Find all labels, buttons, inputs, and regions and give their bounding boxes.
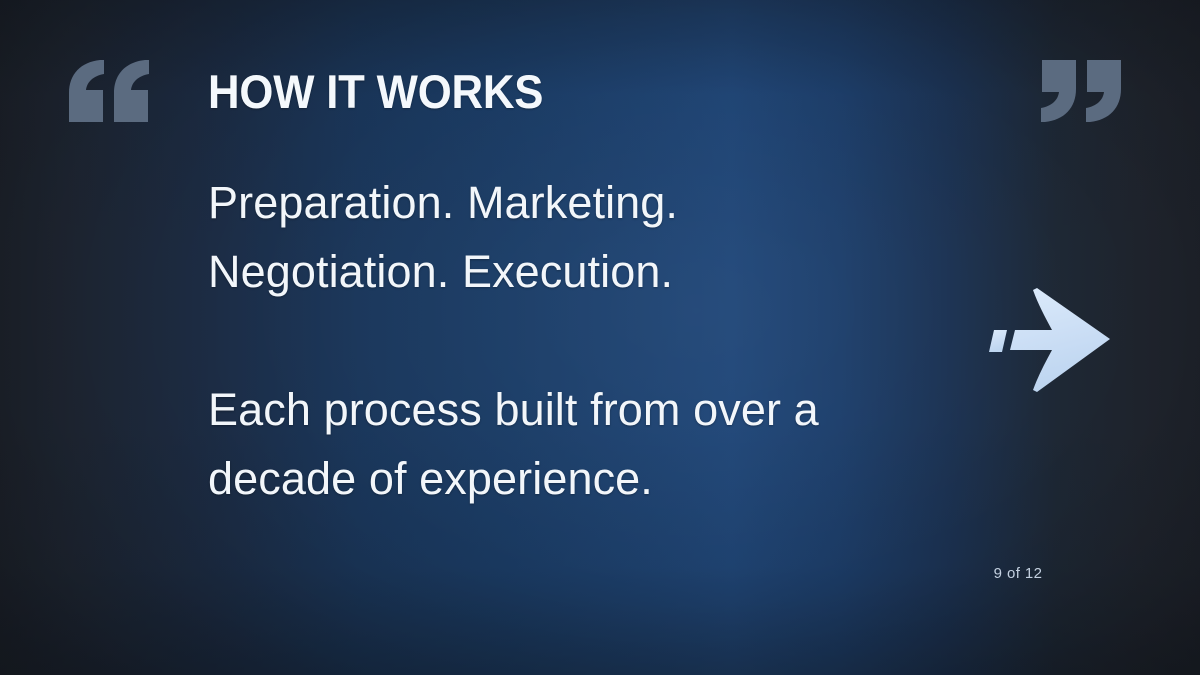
open-quote-icon — [66, 60, 152, 122]
slide-title: HOW IT WORKS — [208, 68, 543, 116]
close-quote-icon — [1038, 60, 1124, 122]
paragraph-1: Preparation. Marketing. Negotiation. Exe… — [208, 168, 968, 306]
presentation-slide: HOW IT WORKS Preparation. Marketing. Neg… — [0, 0, 1200, 675]
page-indicator: 9 of 12 — [988, 565, 1048, 582]
slide-body: Preparation. Marketing. Negotiation. Exe… — [208, 168, 968, 513]
paragraph-1-line-1: Preparation. Marketing. — [208, 168, 968, 237]
paragraph-1-line-2: Negotiation. Execution. — [208, 237, 968, 306]
paragraph-2: Each process built from over a decade of… — [208, 375, 968, 513]
right-arrow-icon — [988, 288, 1112, 392]
slide-content: HOW IT WORKS Preparation. Marketing. Neg… — [0, 0, 1200, 675]
paragraph-2-line-1: Each process built from over a — [208, 375, 968, 444]
paragraph-2-line-2: decade of experience. — [208, 444, 968, 513]
